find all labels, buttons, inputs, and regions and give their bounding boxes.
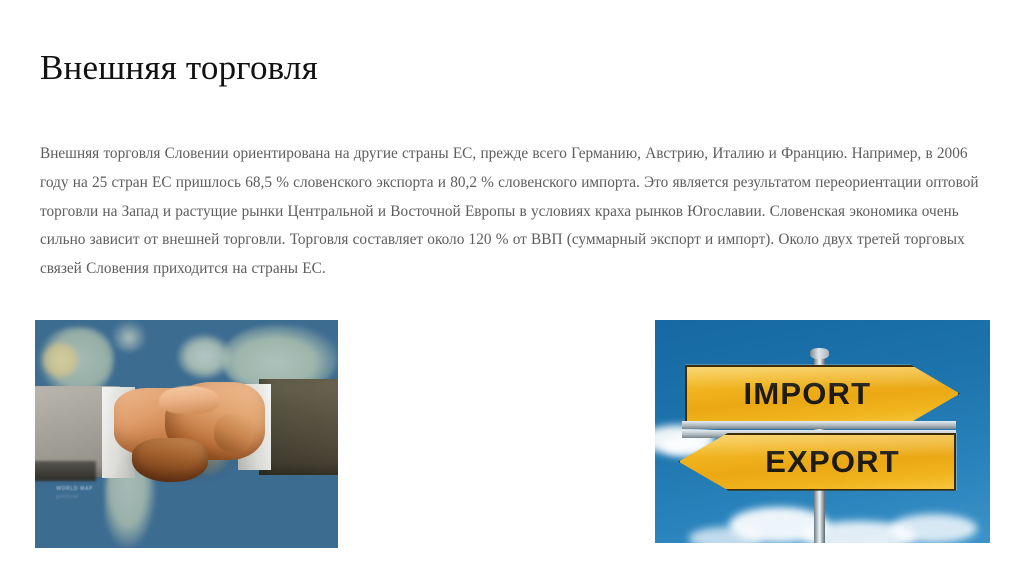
- cloud-icon: [689, 527, 763, 543]
- slide-root: Внешняя торговля Внешняя торговля Словен…: [0, 0, 1024, 574]
- import-sign-arrow-right: IMPORT: [685, 365, 960, 423]
- map-legend-line-2: political: [56, 494, 93, 500]
- thumb: [214, 414, 253, 451]
- page-title: Внешняя торговля: [40, 45, 318, 91]
- handshake-image: WORLD MAP political: [35, 320, 338, 548]
- curled-fingers: [132, 438, 208, 482]
- map-legend-line-1: WORLD MAP: [56, 486, 93, 492]
- map-legend: WORLD MAP political: [56, 486, 93, 500]
- knuckles: [159, 386, 220, 414]
- handshake-hands: [114, 382, 266, 491]
- export-sign-label: EXPORT: [765, 444, 900, 480]
- signpost-cap: [810, 348, 829, 359]
- landmass-greenland-icon: [111, 320, 147, 352]
- export-sign-arrow-left: EXPORT: [678, 433, 956, 491]
- sign-mounting-bracket: [682, 421, 957, 429]
- cloud-icon: [890, 514, 977, 543]
- import-sign-label: IMPORT: [744, 376, 872, 412]
- body-paragraph: Внешняя торговля Словении ориентирована …: [40, 140, 990, 284]
- import-export-signs-image: IMPORT EXPORT: [655, 320, 990, 543]
